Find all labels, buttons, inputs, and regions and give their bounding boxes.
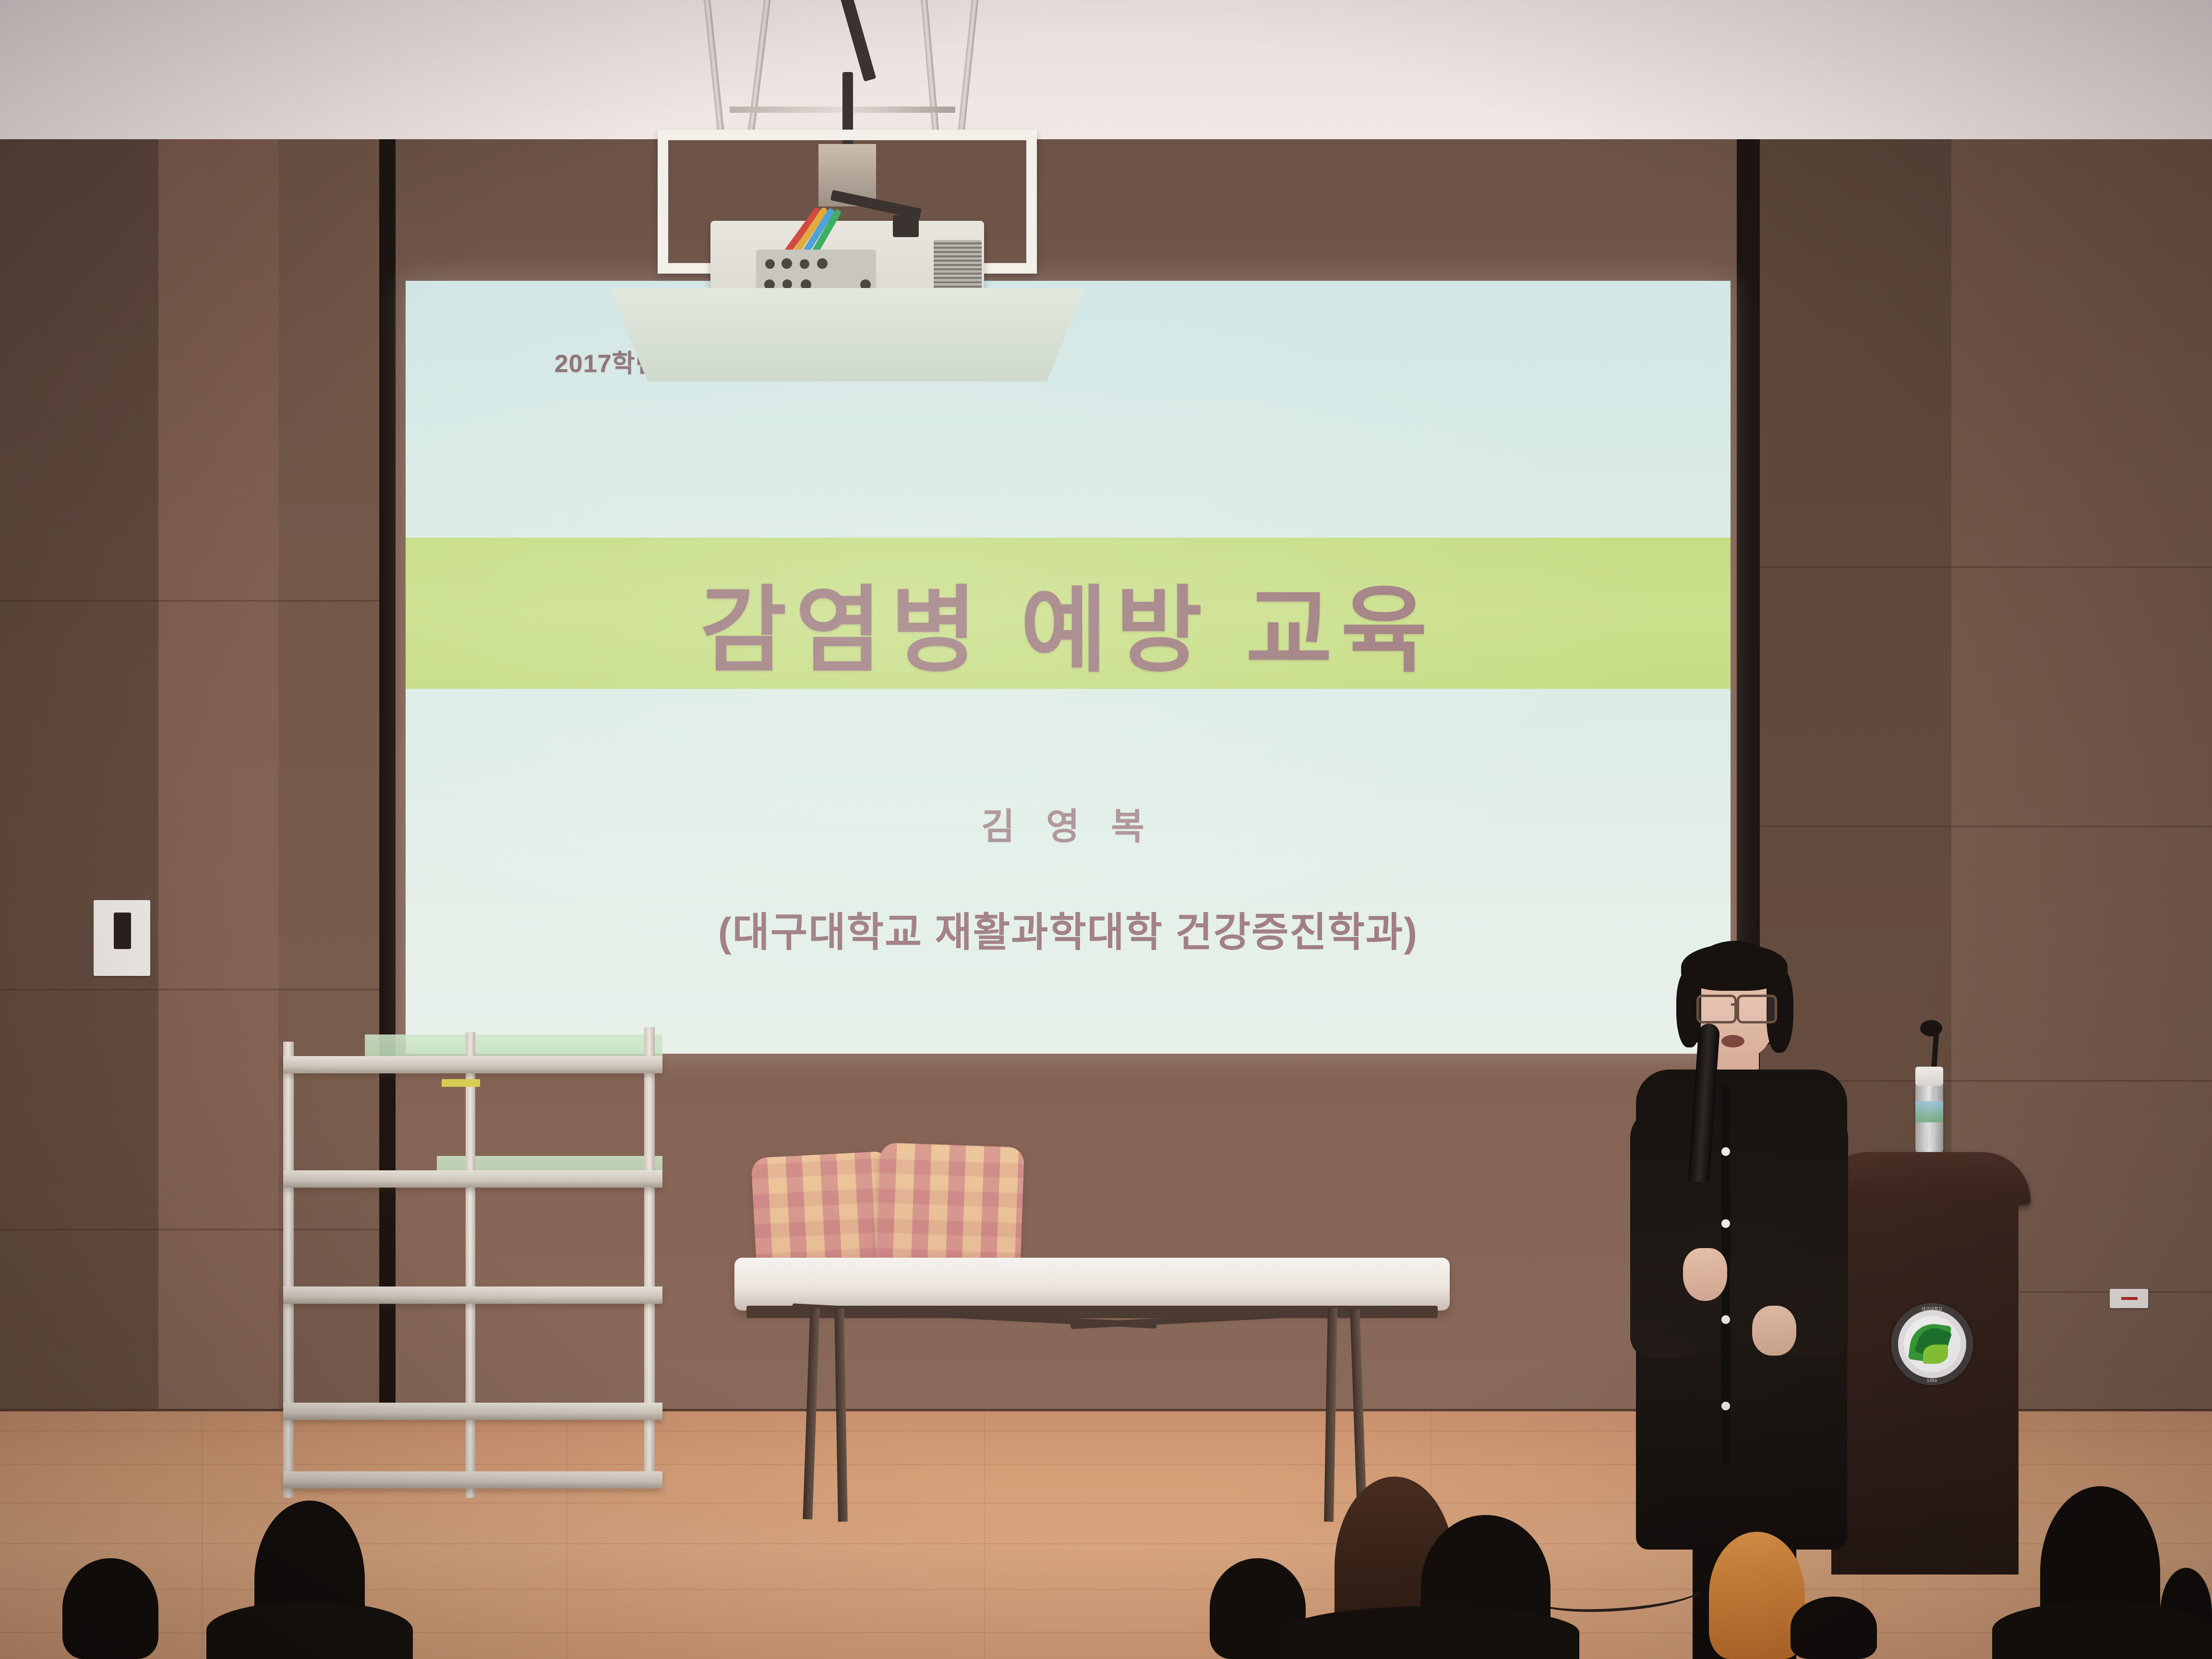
indicator-line-icon: [2121, 1297, 2138, 1300]
port-icon: [782, 279, 792, 289]
slide-bottom-band: [406, 689, 1731, 1054]
ceiling-projector: [638, 0, 1070, 298]
cushion-bundle: [877, 1142, 1025, 1267]
shelf-level-1: [283, 1056, 662, 1073]
seal-top-text: 대구대학교: [1891, 1306, 1973, 1312]
wall-panel-left-outer: [0, 139, 158, 1426]
presenter-hand-right: [1752, 1306, 1796, 1356]
audience-shoulders: [1282, 1606, 1579, 1659]
shelf-post: [466, 1032, 475, 1498]
cardigan-button: [1721, 1219, 1730, 1228]
cardigan-button: [1721, 1315, 1730, 1324]
table-top: [734, 1258, 1450, 1310]
port-icon: [800, 259, 809, 269]
eyeglasses-bridge-icon: [1731, 1003, 1739, 1006]
wall-input-plate-left[interactable]: [94, 900, 150, 976]
wall-panel-left-mid: [158, 139, 278, 1426]
port-icon: [781, 258, 792, 269]
presenter-hand-left: [1683, 1248, 1727, 1301]
input-port-icon: [114, 913, 131, 949]
shelf-level-2: [283, 1170, 662, 1188]
eyeglasses-icon: [1696, 995, 1737, 1023]
cardigan-button: [1721, 1402, 1730, 1410]
wall-seam: [1759, 566, 2212, 568]
shelf-level-4: [283, 1403, 662, 1420]
lecture-hall-scene: 2017학년도 공중보건위기대응교육 감염병 예방 교육 김 영 복 (대구대학…: [0, 0, 2212, 1659]
table-leg: [803, 1308, 819, 1519]
audience-shoulders: [206, 1601, 413, 1659]
port-icon: [765, 259, 775, 269]
mount-rod: [958, 0, 979, 133]
audience-shoulders: [1992, 1601, 2212, 1659]
port-icon: [817, 258, 828, 269]
wall-seam: [0, 600, 379, 601]
shelf-level-3: [283, 1286, 662, 1304]
cardigan-button: [1721, 1147, 1730, 1156]
power-cable: [841, 0, 877, 82]
mount-rod: [920, 0, 939, 134]
slide-presenter-name: 김 영 복: [406, 797, 1731, 850]
slide-title-text: 감염병 예방 교육: [406, 554, 1731, 690]
cushion-bundle: [751, 1151, 896, 1269]
leaf-shape-icon: [1923, 1345, 1948, 1364]
wall-seam: [0, 989, 379, 990]
metal-utility-shelf: [283, 1042, 662, 1498]
table-leg: [834, 1308, 848, 1522]
presenter-arm-left: [1630, 1109, 1697, 1358]
bottle-cap-icon: [1915, 1067, 1943, 1086]
table-leg: [1324, 1308, 1337, 1522]
wall-seam: [1759, 826, 2212, 827]
eyeglasses-icon: [1737, 995, 1777, 1023]
shelf-post: [283, 1042, 294, 1498]
presenter-mouth: [1721, 1035, 1744, 1047]
folding-table: [734, 1258, 1450, 1527]
shelf-label-tag: [442, 1079, 480, 1087]
ceiling: [0, 0, 2212, 144]
projector-shade-panel: [610, 288, 1085, 382]
shelf-level-5: [283, 1471, 662, 1489]
seal-emblem: [1904, 1316, 1960, 1372]
seal-bottom-text: 1956: [1891, 1378, 1973, 1383]
university-seal: 대구대학교 1956: [1891, 1303, 1973, 1385]
microphone-capsule-icon: [1920, 1020, 1942, 1036]
projection-screen: 2017학년도 공중보건위기대응교육 감염병 예방 교육 김 영 복 (대구대학…: [406, 281, 1731, 1054]
audience-head: [62, 1558, 158, 1659]
presenter-speaker: [1608, 941, 1877, 1623]
audience-head: [1791, 1597, 1877, 1659]
slide-affiliation-text: (대구대학교 재활과학대학 건강증진학과): [406, 900, 1731, 958]
bottle-label: [1915, 1101, 1943, 1122]
mount-rod: [703, 0, 724, 134]
wall-input-plate-right[interactable]: [2110, 1289, 2148, 1308]
cable-connector: [893, 215, 919, 237]
